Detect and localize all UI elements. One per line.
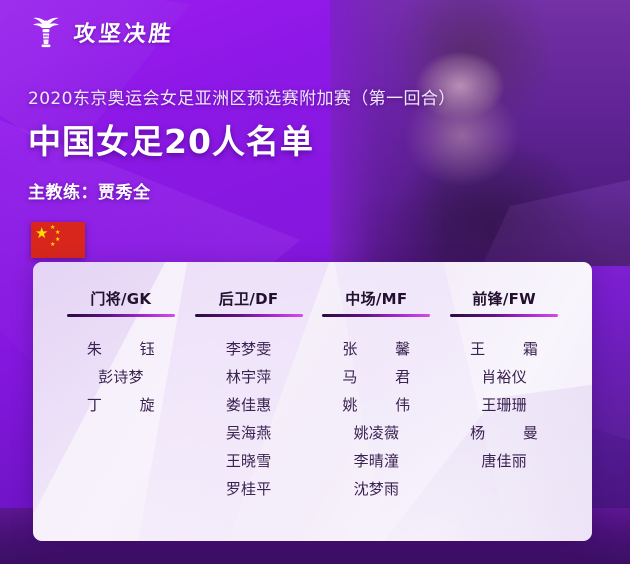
column-header-df-label: 后卫/DF [219,288,279,309]
column-header-fw-label: 前锋/FW [472,288,536,309]
player-name-text: 王晓雪 [226,450,272,471]
player-name-text: 彭诗梦 [98,366,144,387]
roster-columns: 门将/GK 朱钰 彭诗梦 丁旋 后卫/DF 李梦雯 林宇萍 娄佳惠 [33,262,592,499]
player-list-gk: 朱钰 彭诗梦 丁旋 [79,338,163,415]
column-header-fw: 前锋/FW [450,288,558,323]
poster-root: 攻坚决胜 2020东京奥运会女足亚洲区预选赛附加赛（第一回合） 中国女足20人名… [0,0,630,564]
roster-card: 门将/GK 朱钰 彭诗梦 丁旋 后卫/DF 李梦雯 林宇萍 娄佳惠 [33,262,592,541]
event-subtitle: 2020东京奥运会女足亚洲区预选赛附加赛（第一回合） [28,84,456,109]
column-header-mf: 中场/MF [322,288,430,323]
player-name-char: 姚 [342,394,357,415]
flag-star-large: ★ [35,226,48,241]
column-header-fw-underline [450,314,558,317]
player-name: 姚凌薇 [342,422,410,443]
player-name: 彭诗梦 [87,366,155,387]
player-name-char: 王 [470,338,485,359]
player-name: 唐佳丽 [470,450,538,471]
player-name: 娄佳惠 [215,394,283,415]
player-name-char: 朱 [87,338,102,359]
player-name-text: 唐佳丽 [481,450,527,471]
column-header-gk: 门将/GK [67,288,175,323]
player-name-text: 吴海燕 [226,422,272,443]
player-list-mf: 张馨 马君 姚伟 姚凌薇 李晴潼 沈梦雨 [334,338,418,499]
player-name-text: 娄佳惠 [226,394,272,415]
head-coach-label: 主教练：贾秀全 [28,178,151,203]
player-name-char: 马 [342,366,357,387]
player-name-text: 李晴潼 [354,450,400,471]
player-name: 王霜 [462,338,546,359]
column-header-gk-underline [67,314,175,317]
player-name-text: 林宇萍 [226,366,272,387]
player-name: 李梦雯 [215,338,283,359]
player-name-char: 曼 [523,422,538,443]
player-name-char: 杨 [470,422,485,443]
player-name-text: 李梦雯 [226,338,272,359]
column-header-gk-label: 门将/GK [90,288,151,309]
player-name-char: 旋 [140,394,155,415]
brand-logo: 攻坚决胜 [24,10,174,54]
player-name-char: 丁 [87,394,102,415]
player-name: 朱钰 [79,338,163,359]
player-name: 马君 [334,366,418,387]
column-header-df-underline [195,314,303,317]
player-name: 王晓雪 [215,450,283,471]
roster-column-gk: 门将/GK 朱钰 彭诗梦 丁旋 [57,288,185,499]
player-name-char: 张 [342,338,357,359]
brand-logo-text: 攻坚决胜 [72,16,175,48]
column-header-df: 后卫/DF [195,288,303,323]
roster-column-mf: 中场/MF 张馨 马君 姚伟 姚凌薇 李晴潼 沈梦雨 [313,288,441,499]
player-name: 张馨 [334,338,418,359]
player-name: 杨曼 [462,422,546,443]
player-list-fw: 王霜 肖裕仪 王珊珊 杨曼 唐佳丽 [462,338,546,471]
column-header-mf-underline [322,314,430,317]
player-name: 李晴潼 [342,450,410,471]
player-name-char: 钰 [140,338,155,359]
player-name-text: 王珊珊 [481,394,527,415]
roster-column-fw: 前锋/FW 王霜 肖裕仪 王珊珊 杨曼 唐佳丽 [440,288,568,499]
player-name-char: 伟 [395,394,410,415]
column-header-mf-label: 中场/MF [345,288,407,309]
player-name-text: 肖裕仪 [481,366,527,387]
player-name: 肖裕仪 [470,366,538,387]
player-name: 姚伟 [334,394,418,415]
flag-star-small-4: ★ [50,242,55,248]
player-name: 罗桂平 [215,478,283,499]
player-name-char: 君 [395,366,410,387]
phoenix-torch-emblem-icon [24,10,68,54]
player-name-text: 沈梦雨 [354,478,400,499]
player-name: 沈梦雨 [342,478,410,499]
player-name: 吴海燕 [215,422,283,443]
flag-star-small-3: ★ [55,237,60,243]
roster-column-df: 后卫/DF 李梦雯 林宇萍 娄佳惠 吴海燕 王晓雪 罗桂平 [185,288,313,499]
player-name: 王珊珊 [470,394,538,415]
china-flag-icon: ★ ★ ★ ★ ★ [31,222,85,258]
page-title: 中国女足20人名单 [28,115,314,163]
player-name: 林宇萍 [215,366,283,387]
player-name-char: 霜 [523,338,538,359]
player-list-df: 李梦雯 林宇萍 娄佳惠 吴海燕 王晓雪 罗桂平 [215,338,283,499]
player-name-char: 馨 [395,338,410,359]
player-name-text: 姚凌薇 [354,422,400,443]
player-name: 丁旋 [79,394,163,415]
player-name-text: 罗桂平 [226,478,272,499]
